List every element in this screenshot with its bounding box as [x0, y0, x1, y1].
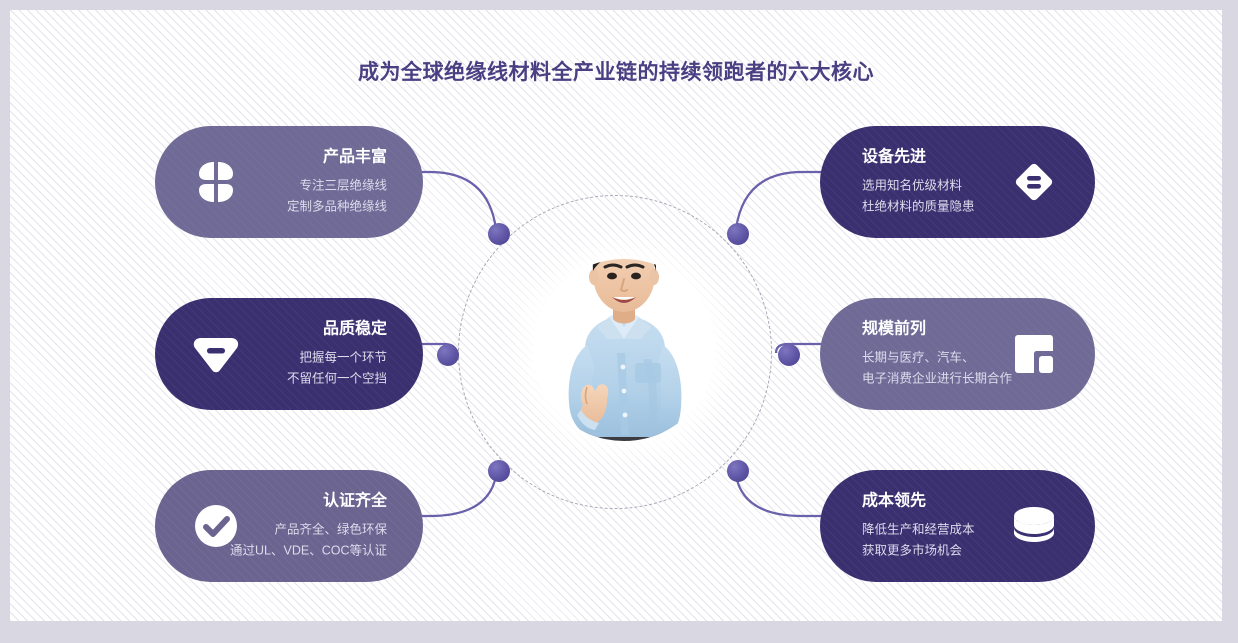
- card-text-block: 规模前列 长期与医疗、汽车、 电子消费企业进行长期合作: [862, 319, 1012, 390]
- card-line-1: 长期与医疗、汽车、: [862, 348, 1012, 369]
- connector-left-bottom: [408, 476, 496, 516]
- card-title: 设备先进: [862, 147, 975, 169]
- card-product-rich[interactable]: 产品丰富 专注三层绝缘线 定制多品种绝缘线: [155, 126, 423, 238]
- content-panel: 成为全球绝缘线材料全产业链的持续领跑者的六大核心: [10, 10, 1222, 621]
- card-certification-complete[interactable]: 认证齐全 产品齐全、绿色环保 通过UL、VDE、COC等认证: [155, 470, 423, 582]
- card-equipment-advanced[interactable]: 设备先进 选用知名优级材料 杜绝材料的质量隐患: [820, 126, 1095, 238]
- card-line-2: 获取更多市场机会: [862, 541, 975, 562]
- orbit-dot-left-top: [488, 223, 510, 245]
- orbit-dot-left-mid: [437, 344, 459, 366]
- orbit-dot-right-mid: [778, 344, 800, 366]
- card-title: 成本领先: [862, 491, 975, 513]
- card-text-block: 产品丰富 专注三层绝缘线 定制多品种绝缘线: [287, 147, 387, 218]
- connector-right-top: [736, 172, 824, 229]
- card-line-2: 通过UL、VDE、COC等认证: [230, 541, 387, 562]
- card-text-block: 认证齐全 产品齐全、绿色环保 通过UL、VDE、COC等认证: [230, 491, 387, 562]
- person-illustration: [525, 227, 723, 477]
- gem-minus-icon: [188, 326, 244, 382]
- card-line-2: 杜绝材料的质量隐患: [862, 197, 975, 218]
- card-line-1: 选用知名优级材料: [862, 176, 975, 197]
- card-title: 产品丰富: [287, 147, 387, 169]
- card-text-block: 品质稳定 把握每一个环节 不留任何一个空挡: [287, 319, 387, 390]
- card-title: 认证齐全: [230, 491, 387, 513]
- orbit-dot-right-top: [727, 223, 749, 245]
- center-photo: [533, 259, 715, 441]
- diamond-bars-icon: [1006, 154, 1062, 210]
- card-title: 规模前列: [862, 319, 1012, 341]
- card-line-1: 把握每一个环节: [287, 348, 387, 369]
- orbit-dot-right-bottom: [727, 460, 749, 482]
- infographic-stage: 成为全球绝缘线材料全产业链的持续领跑者的六大核心: [0, 0, 1238, 643]
- card-quality-stable[interactable]: 品质稳定 把握每一个环节 不留任何一个空挡: [155, 298, 423, 410]
- card-line-1: 降低生产和经营成本: [862, 520, 975, 541]
- card-title: 品质稳定: [287, 319, 387, 341]
- notched-square-icon: [1006, 326, 1062, 382]
- orbit-dot-left-bottom: [488, 460, 510, 482]
- card-text-block: 设备先进 选用知名优级材料 杜绝材料的质量隐患: [862, 147, 975, 218]
- card-line-2: 定制多品种绝缘线: [287, 197, 387, 218]
- card-line-1: 专注三层绝缘线: [287, 176, 387, 197]
- clover-icon: [188, 154, 244, 210]
- card-cost-leading[interactable]: 成本领先 降低生产和经营成本 获取更多市场机会: [820, 470, 1095, 582]
- card-scale-leading[interactable]: 规模前列 长期与医疗、汽车、 电子消费企业进行长期合作: [820, 298, 1095, 410]
- connector-right-bottom: [736, 476, 824, 516]
- page-title: 成为全球绝缘线材料全产业链的持续领跑者的六大核心: [10, 56, 1222, 86]
- card-line-2: 不留任何一个空挡: [287, 369, 387, 390]
- card-line-1: 产品齐全、绿色环保: [230, 520, 387, 541]
- database-icon: [1006, 498, 1062, 554]
- card-line-2: 电子消费企业进行长期合作: [862, 369, 1012, 390]
- card-text-block: 成本领先 降低生产和经营成本 获取更多市场机会: [862, 491, 975, 562]
